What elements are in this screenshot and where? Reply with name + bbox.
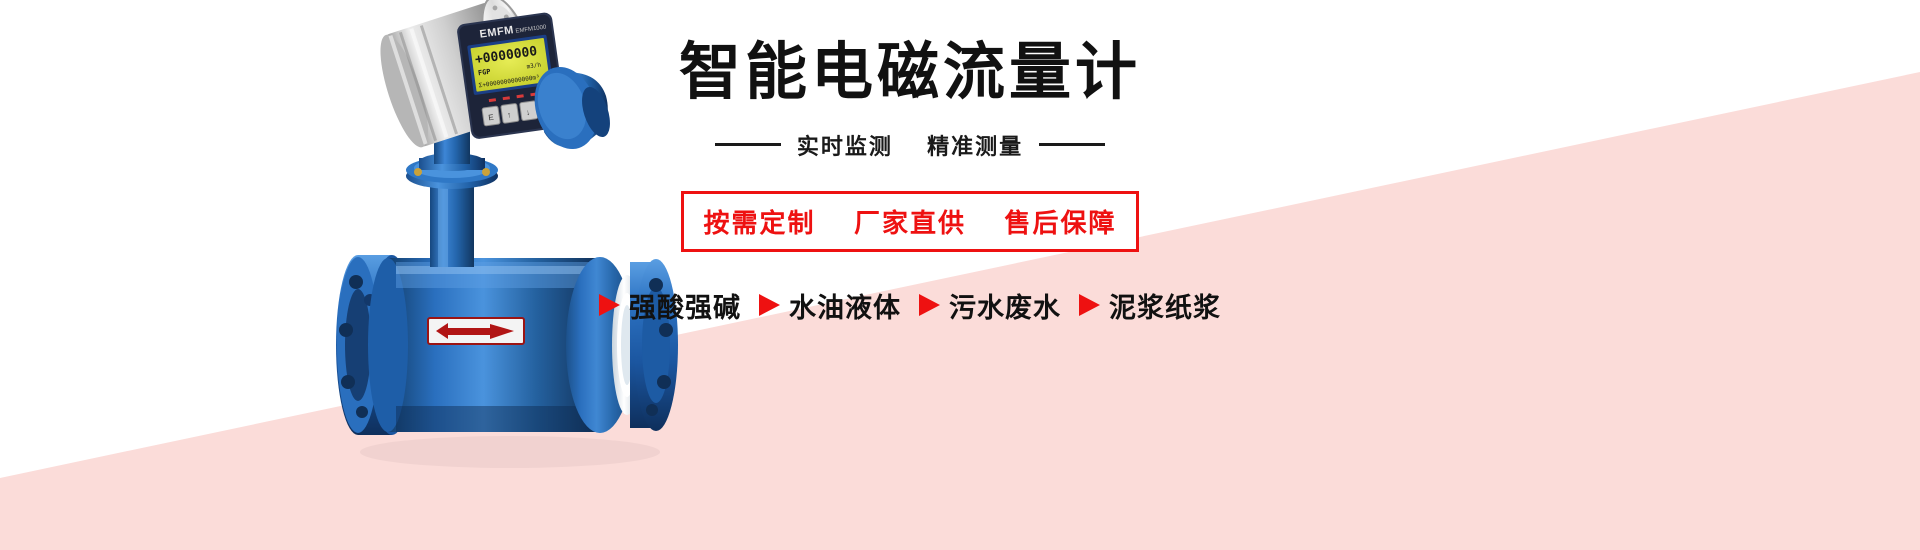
promo-guarantee-box: 按需定制 厂家直供 售后保障 xyxy=(681,191,1140,252)
triangle-right-icon xyxy=(919,294,940,316)
rule-left-icon xyxy=(715,143,781,146)
product-banner: EMFM EMFM1000 +0000000 FGP m3/h Σ+000000… xyxy=(0,0,1920,550)
feature-label-1: 水油液体 xyxy=(789,286,901,325)
feature-item-3: 泥浆纸浆 xyxy=(1079,286,1221,325)
subtitle-text: 实时监测 精准测量 xyxy=(797,129,1023,161)
flow-direction-arrow-icon xyxy=(428,318,524,344)
triangle-right-icon xyxy=(759,294,780,316)
promo-item-1: 厂家直供 xyxy=(854,208,966,238)
subtitle-row: 实时监测 精准测量 xyxy=(600,129,1220,161)
promo-item-2: 售后保障 xyxy=(1004,208,1116,238)
feature-label-2: 污水废水 xyxy=(949,286,1061,325)
triangle-right-icon xyxy=(1079,294,1100,316)
promo-item-0: 按需定制 xyxy=(704,208,816,238)
feature-label-0: 强酸强碱 xyxy=(629,286,741,325)
subtitle-left: 实时监测 xyxy=(797,134,893,159)
headline-block: 智能电磁流量计 实时监测 精准测量 按需定制 厂家直供 售后保障 强酸强碱 xyxy=(600,40,1220,370)
feature-item-2: 污水废水 xyxy=(919,286,1061,325)
promo-text: 按需定制 厂家直供 售后保障 xyxy=(704,203,1117,240)
feature-list: 强酸强碱 水油液体 污水废水 泥浆纸浆 xyxy=(600,286,1220,325)
feature-label-3: 泥浆纸浆 xyxy=(1109,286,1221,325)
feature-item-0: 强酸强碱 xyxy=(599,286,741,325)
rule-right-icon xyxy=(1039,143,1105,146)
feature-item-1: 水油液体 xyxy=(759,286,901,325)
subtitle-right: 精准测量 xyxy=(927,134,1023,159)
triangle-right-icon xyxy=(599,294,620,316)
page-title: 智能电磁流量计 xyxy=(600,40,1220,107)
